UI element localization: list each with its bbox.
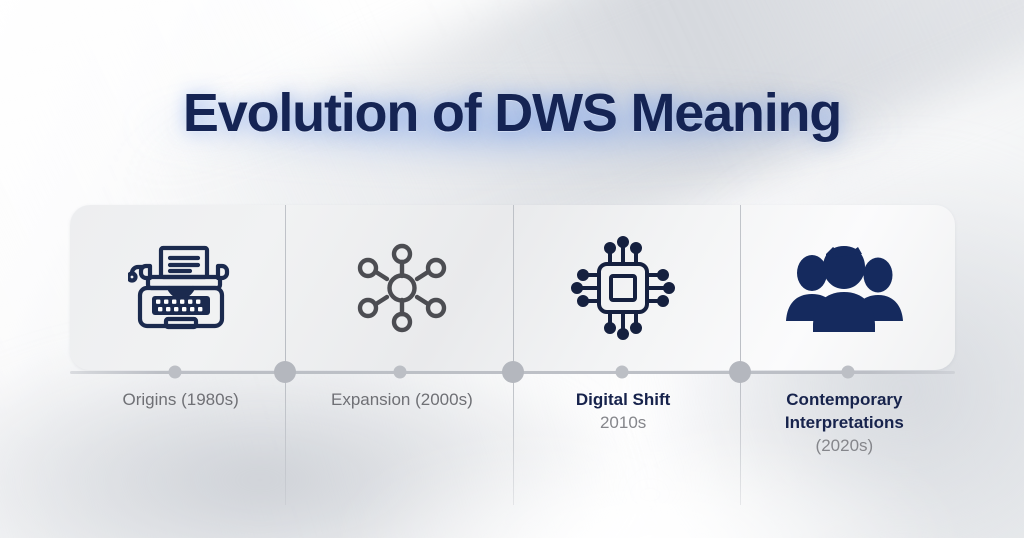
title-block: Evolution of DWS Meaning xyxy=(0,82,1024,144)
timeline-marker-3[interactable] xyxy=(729,361,751,383)
stage-label-contemporary: Contemporary Interpretations (2020s) xyxy=(734,388,955,457)
microchip-icon xyxy=(571,236,675,340)
page-title: Evolution of DWS Meaning xyxy=(0,82,1024,144)
timeline-node-contemporary[interactable] xyxy=(842,366,855,379)
stage-label-digital-shift-title: Digital Shift xyxy=(521,388,726,411)
infographic-canvas: Evolution of DWS Meaning xyxy=(0,0,1024,538)
timeline-marker-2[interactable] xyxy=(502,361,524,383)
stage-label-contemporary-title: Contemporary Interpretations xyxy=(742,388,947,434)
timeline-node-digital-shift[interactable] xyxy=(616,366,629,379)
typewriter-icon xyxy=(128,241,234,335)
stage-label-expansion-title: Expansion (2000s) xyxy=(299,388,504,411)
stage-label-contemporary-sub: (2020s) xyxy=(742,434,947,457)
people-group-icon xyxy=(782,242,906,334)
timeline-marker-1[interactable] xyxy=(274,361,296,383)
stage-label-digital-shift-sub: 2010s xyxy=(521,411,726,434)
network-hub-icon xyxy=(354,240,450,336)
stage-label-expansion: Expansion (2000s) xyxy=(291,388,512,457)
stage-label-origins: Origins (1980s) xyxy=(70,388,291,457)
timeline-node-origins[interactable] xyxy=(169,366,182,379)
stage-icon-cell-digital-shift xyxy=(513,205,734,370)
stage-icons-row xyxy=(70,205,955,370)
stage-labels-row: Origins (1980s) Expansion (2000s) Digita… xyxy=(70,388,955,457)
stage-label-digital-shift: Digital Shift 2010s xyxy=(513,388,734,457)
stage-icon-cell-expansion xyxy=(291,205,512,370)
stage-icon-cell-origins xyxy=(70,205,291,370)
timeline-node-expansion[interactable] xyxy=(394,366,407,379)
stage-label-origins-title: Origins (1980s) xyxy=(78,388,283,411)
stage-icon-cell-contemporary xyxy=(734,205,955,370)
